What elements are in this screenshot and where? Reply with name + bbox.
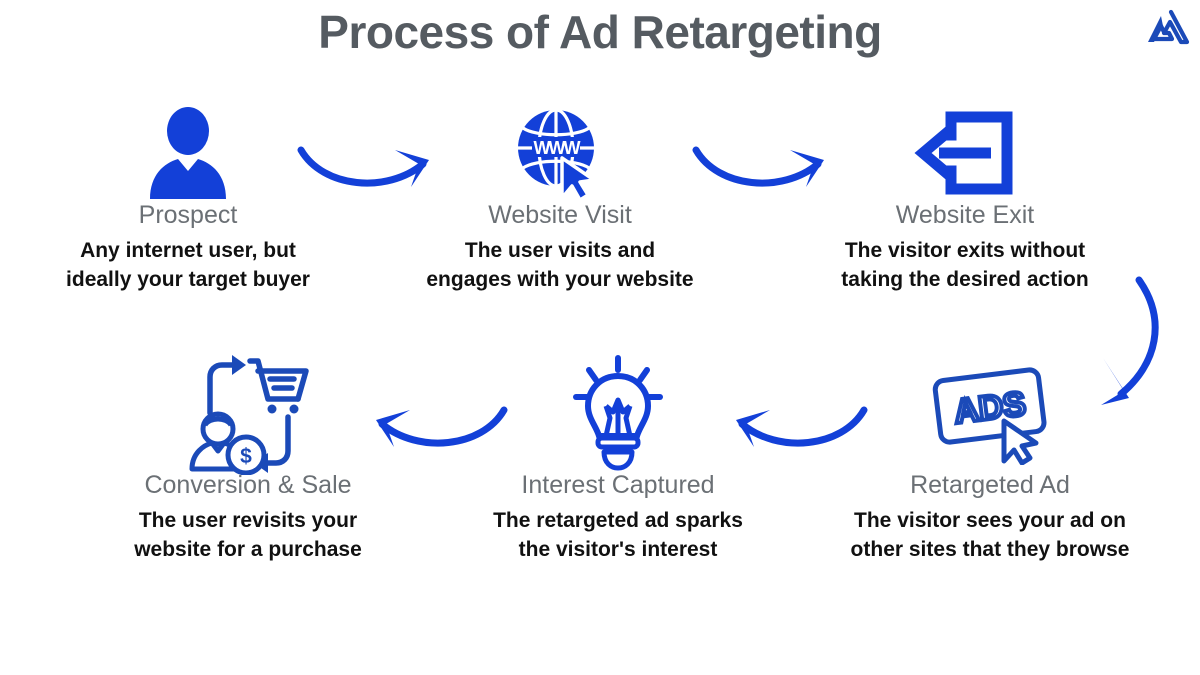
step-desc-line: The retargeted ad sparks (448, 506, 788, 535)
step-desc-prospect: Any internet user, but ideally your targ… (18, 236, 358, 294)
brand-mountain-logo (1144, 8, 1190, 48)
step-website-exit: Website Exit The visitor exits without t… (795, 108, 1135, 294)
shopping-cart-customer-dollar-icon: $ (78, 358, 418, 468)
step-conversion-sale: $ Conversion & Sale The user revisits yo… (78, 358, 418, 564)
step-label-retargeted-ad: Retargeted Ad (820, 470, 1160, 500)
step-desc-conversion-sale: The user revisits your website for a pur… (78, 506, 418, 564)
step-desc-line: The user visits and (390, 236, 730, 265)
step-label-interest-captured: Interest Captured (448, 470, 788, 500)
exit-logout-icon (795, 108, 1135, 198)
step-label-website-visit: Website Visit (390, 200, 730, 230)
step-desc-website-exit: The visitor exits without taking the des… (795, 236, 1135, 294)
step-website-visit: WWW Website Visit The user visits and en… (390, 108, 730, 294)
step-desc-line: website for a purchase (78, 535, 418, 564)
step-desc-line: The visitor exits without (795, 236, 1135, 265)
step-desc-line: engages with your website (390, 265, 730, 294)
step-retargeted-ad: ADS Retargeted Ad The visitor sees your … (820, 358, 1160, 564)
ads-icon-text: ADS (952, 385, 1028, 431)
step-label-conversion-sale: Conversion & Sale (78, 470, 418, 500)
ads-banner-cursor-icon: ADS (820, 358, 1160, 468)
step-desc-line: other sites that they browse (820, 535, 1160, 564)
dollar-sign-icon: $ (240, 445, 252, 468)
step-desc-line: Any internet user, but (18, 236, 358, 265)
step-desc-line: The user revisits your (78, 506, 418, 535)
svg-text:WWW: WWW (534, 138, 581, 158)
step-desc-line: taking the desired action (795, 265, 1135, 294)
step-desc-line: ideally your target buyer (18, 265, 358, 294)
step-label-website-exit: Website Exit (795, 200, 1135, 230)
step-desc-interest-captured: The retargeted ad sparks the visitor's i… (448, 506, 788, 564)
step-desc-retargeted-ad: The visitor sees your ad on other sites … (820, 506, 1160, 564)
step-desc-line: the visitor's interest (448, 535, 788, 564)
step-label-prospect: Prospect (18, 200, 358, 230)
step-desc-line: The visitor sees your ad on (820, 506, 1160, 535)
step-desc-website-visit: The user visits and engages with your we… (390, 236, 730, 294)
page-title: Process of Ad Retargeting (0, 2, 1200, 62)
globe-www-cursor-icon: WWW (390, 108, 730, 198)
infographic-canvas: Process of Ad Retargeting Prospect Any i… (0, 0, 1200, 675)
